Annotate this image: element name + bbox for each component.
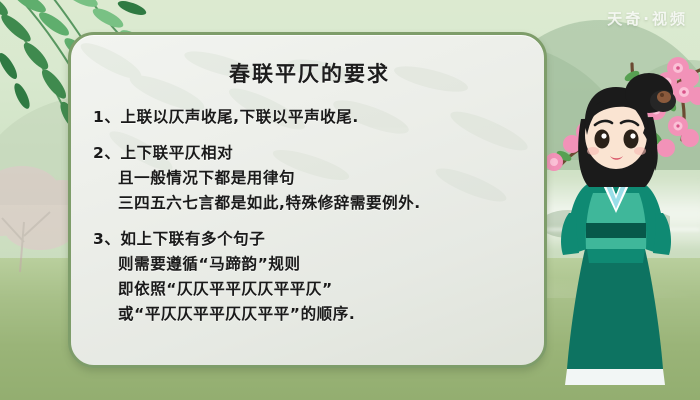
rule-2-line-1: 2、上下联平仄相对	[93, 141, 526, 166]
rules-list: 1、上联以仄声收尾,下联以平声收尾. 2、上下联平仄相对 且一般情况下都是用律句…	[93, 105, 526, 327]
rule-3-line-1: 3、如上下联有多个句子	[93, 227, 526, 252]
rule-2-line-2: 且一般情况下都是用律句	[93, 166, 526, 191]
watermark: 天奇·视频	[607, 8, 688, 29]
rule-item-1: 1、上联以仄声收尾,下联以平声收尾.	[93, 105, 526, 130]
page-title: 春联平仄的要求	[93, 58, 526, 88]
slide-canvas: 天奇·视频	[0, 0, 700, 400]
content-card: 春联平仄的要求 1、上联以仄声收尾,下联以平声收尾. 2、上下联平仄相对 且一般…	[68, 32, 547, 368]
rule-item-2: 2、上下联平仄相对 且一般情况下都是用律句 三四五六七言都是如此,特殊修辞需要例…	[93, 141, 526, 216]
rule-3-line-2: 则需要遵循“马蹄韵”规则	[93, 252, 526, 277]
hair-ornament	[657, 91, 671, 103]
character-eye-right	[624, 130, 639, 149]
hanfu-girl-illustration	[545, 63, 700, 393]
rule-2-line-3: 三四五六七言都是如此,特殊修辞需要例外.	[93, 191, 526, 216]
rule-3-line-3: 即依照“仄仄平平仄仄平平仄”	[93, 277, 526, 302]
character-sash	[586, 223, 646, 238]
rule-1-line-1: 1、上联以仄声收尾,下联以平声收尾.	[93, 105, 526, 130]
character-skirt	[567, 249, 663, 369]
character-eye-left	[595, 130, 610, 149]
rule-3-line-4: 或“平仄仄平平仄仄平平”的顺序.	[93, 302, 526, 327]
character-hem	[565, 369, 665, 385]
rule-item-3: 3、如上下联有多个句子 则需要遵循“马蹄韵”规则 即依照“仄仄平平仄仄平平仄” …	[93, 227, 526, 327]
